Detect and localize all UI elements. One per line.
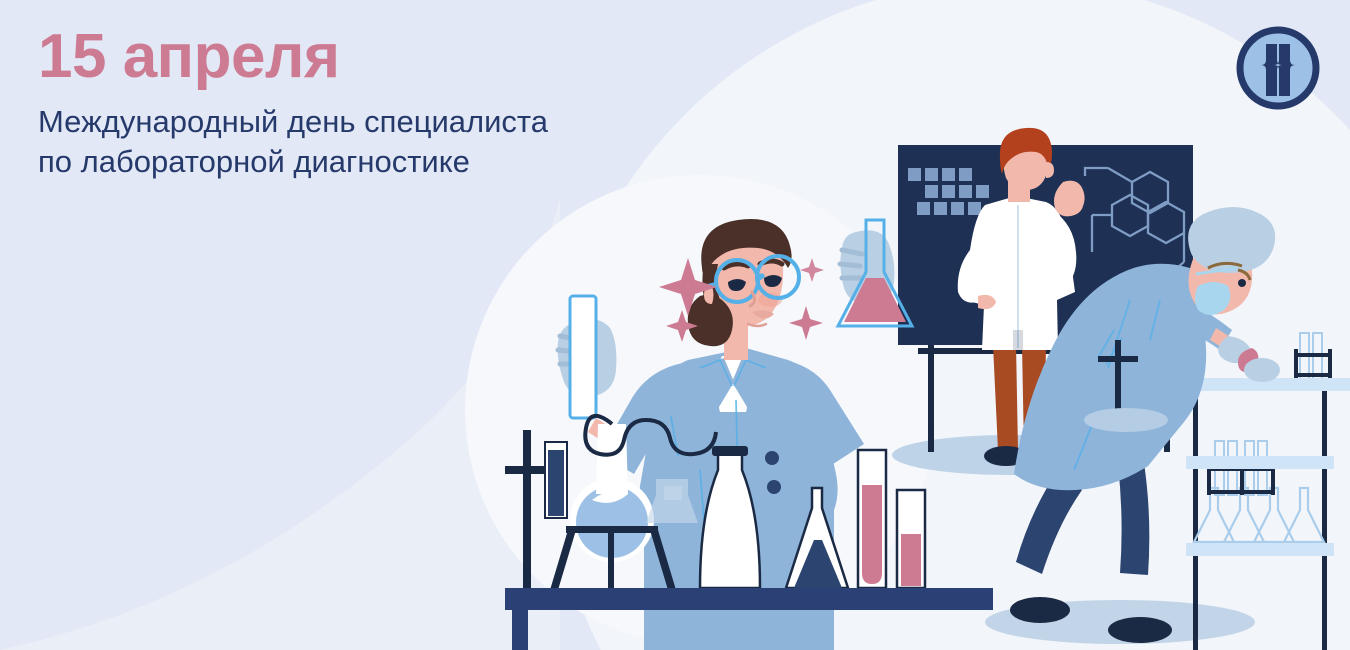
bench-top xyxy=(505,588,993,610)
bench-leg-left xyxy=(512,606,528,650)
shelf-post-right xyxy=(1322,388,1327,650)
female-test-tube xyxy=(570,296,596,418)
shelf-scientist-eye xyxy=(1238,279,1246,287)
shelf-scientist-sample-vessel xyxy=(1244,358,1280,382)
brand-logo[interactable] xyxy=(1230,20,1326,116)
round-flask-neck xyxy=(596,424,628,494)
page-title: 15 апреля xyxy=(38,26,798,88)
female-coat-button-bottom xyxy=(767,480,781,494)
shelf-scientist-leg-front xyxy=(1118,463,1149,575)
shelf-board-middle xyxy=(1186,456,1334,469)
chromosome-logo-icon xyxy=(1230,20,1326,116)
ring-stand-test-tube-liquid xyxy=(548,450,564,516)
shelf-post-left xyxy=(1193,388,1198,650)
ghost-flask-neck xyxy=(664,486,682,500)
page-subtitle: Международный день специалиста по лабора… xyxy=(38,102,798,181)
shelf-board-bottom xyxy=(1186,543,1334,556)
banner-root: 15 апреля Международный день специалиста… xyxy=(0,0,1350,650)
shelf-scientist-shoe-front xyxy=(1108,617,1172,643)
headline-block: 15 апреля Международный день специалиста… xyxy=(38,26,798,181)
test-tube-pink-large-liquid xyxy=(862,485,882,584)
test-tube-pink-small-liquid xyxy=(901,534,921,586)
male-coat-vent xyxy=(1013,330,1023,350)
blackboard-leg-left xyxy=(928,340,934,452)
female-coat-button-top xyxy=(765,451,779,465)
shelf-scientist-shoe-back xyxy=(1010,597,1070,623)
conical-flask-stopper xyxy=(712,446,748,456)
